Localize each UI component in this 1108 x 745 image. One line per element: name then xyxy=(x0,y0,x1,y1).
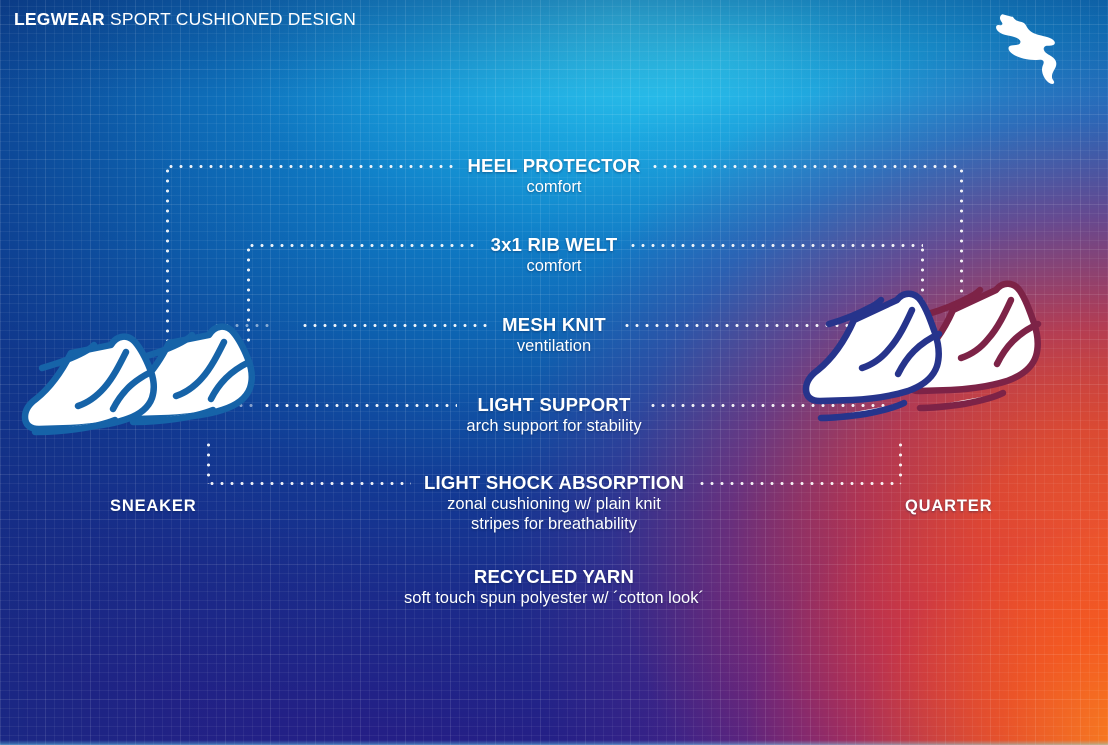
feature-recycled-yarn: RECYCLED YARN soft touch spun polyester … xyxy=(404,567,704,609)
feature-title: LIGHT SUPPORT xyxy=(466,395,641,415)
page-title-rest: SPORT CUSHIONED DESIGN xyxy=(105,9,356,29)
feature-subtitle-line2: stripes for breathability xyxy=(424,515,684,535)
feature-title: MESH KNIT xyxy=(502,315,606,335)
product-caption-sneaker: SNEAKER xyxy=(110,497,196,516)
feature-title: LIGHT SHOCK ABSORPTION xyxy=(424,473,684,493)
quarter-socks-illustration xyxy=(800,268,1100,468)
leader-line-shock-left-horizontal xyxy=(207,482,411,485)
leader-line-ribwelt-right-horizontal xyxy=(628,244,923,247)
leader-line-ribwelt-left-horizontal xyxy=(247,244,479,247)
leader-line-heel-left-horizontal xyxy=(166,165,456,168)
feature-subtitle: ventilation xyxy=(502,337,606,357)
feature-subtitle: soft touch spun polyester w/ ´cotton loo… xyxy=(404,589,704,609)
feature-subtitle: comfort xyxy=(467,178,640,198)
feature-title: RECYCLED YARN xyxy=(404,567,704,587)
infographic-canvas: LEGWEAR SPORT CUSHIONED DESIGN xyxy=(0,0,1108,745)
leader-line-mesh-left-horizontal xyxy=(300,324,490,327)
product-caption-quarter: QUARTER xyxy=(905,497,992,516)
page-title: LEGWEAR SPORT CUSHIONED DESIGN xyxy=(14,9,356,30)
feature-rib-welt: 3x1 RIB WELT comfort xyxy=(491,235,618,277)
feature-subtitle: zonal cushioning w/ plain knit xyxy=(424,495,684,515)
feature-subtitle: arch support for stability xyxy=(466,417,641,437)
leader-line-shock-right-horizontal xyxy=(697,482,901,485)
feature-heel-protector: HEEL PROTECTOR comfort xyxy=(467,156,640,198)
feature-title: 3x1 RIB WELT xyxy=(491,235,618,255)
sneaker-socks-illustration xyxy=(10,300,310,465)
page-title-brand: LEGWEAR xyxy=(14,9,105,29)
feature-title: HEEL PROTECTOR xyxy=(467,156,640,176)
feature-light-shock-absorption: LIGHT SHOCK ABSORPTION zonal cushioning … xyxy=(424,473,684,534)
puma-leaping-cat-icon xyxy=(986,8,1082,90)
feature-subtitle: comfort xyxy=(491,257,618,277)
leader-line-heel-right-horizontal xyxy=(650,165,962,168)
feature-mesh-knit: MESH KNIT ventilation xyxy=(502,315,606,357)
feature-light-support: LIGHT SUPPORT arch support for stability xyxy=(466,395,641,437)
